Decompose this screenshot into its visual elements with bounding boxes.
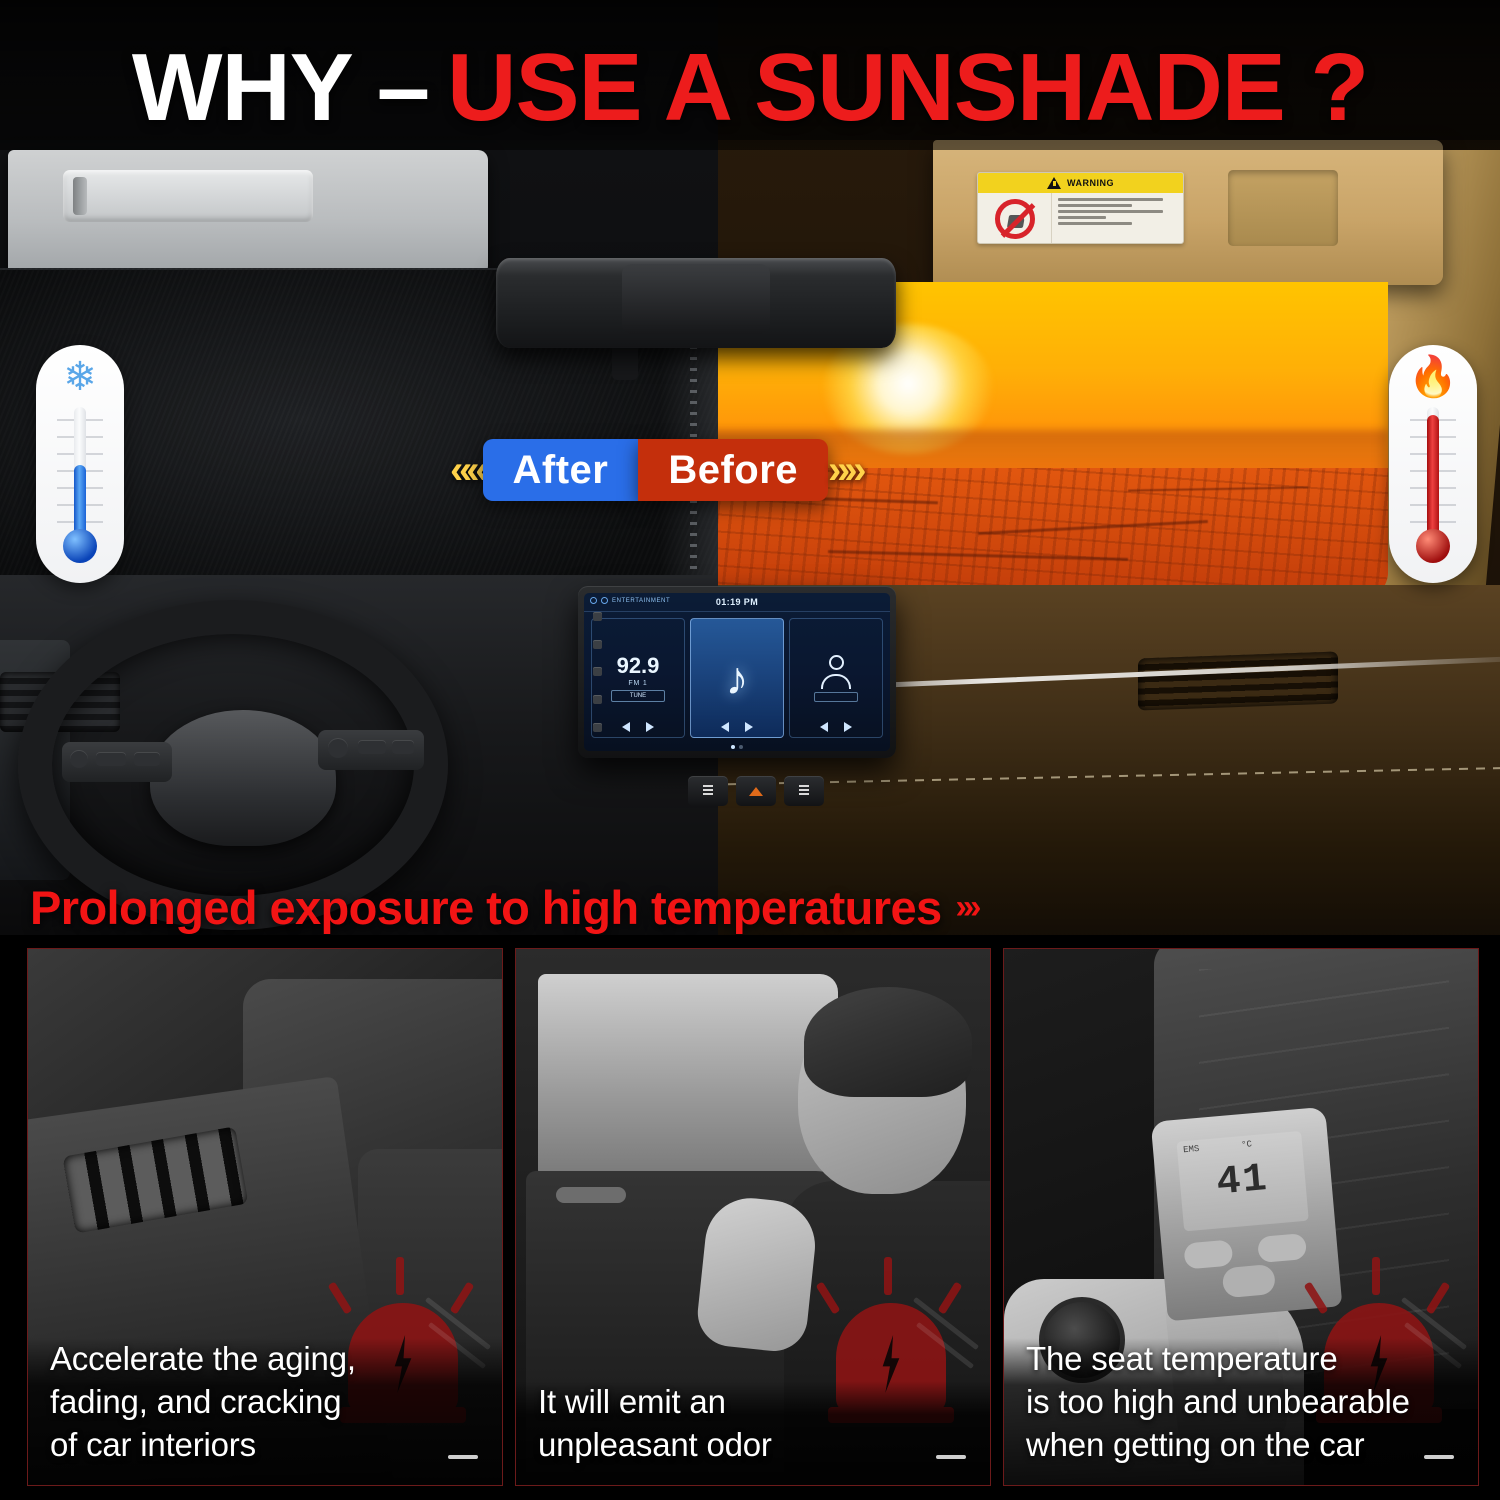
steering-button — [96, 752, 126, 766]
person-hair — [804, 987, 972, 1097]
infotainment-brand-label: ENTERTAINMENT — [612, 598, 670, 604]
panel-seat-temp: 41 EMS °C — [1003, 948, 1479, 1486]
seat-heater-left-button[interactable] — [688, 776, 728, 806]
thermometer-tube — [1427, 407, 1439, 539]
radio-seek-controls[interactable] — [622, 722, 654, 732]
infotainment-page-dots — [584, 742, 890, 751]
infotainment-statusbar: ENTERTAINMENT 01:19 PM — [584, 593, 890, 612]
visor-card-slot — [1228, 170, 1338, 246]
infotainment-clock: 01:19 PM — [716, 597, 758, 607]
menu-key[interactable] — [593, 695, 602, 704]
air-vent-right — [1138, 652, 1338, 711]
caption-underscore — [936, 1455, 966, 1459]
radio-frequency: 92.9 — [617, 655, 660, 677]
cold-thermometer: ❄ — [36, 345, 124, 583]
warning-label-text: WARNING — [1067, 178, 1114, 188]
profile-nav-controls[interactable] — [820, 722, 852, 732]
steering-wheel-airbag-hub — [150, 710, 336, 846]
back-key[interactable] — [593, 723, 602, 732]
hazard-triangle-icon — [749, 787, 763, 796]
hazard-lights-button[interactable] — [736, 776, 776, 806]
infotainment-head-unit[interactable]: ENTERTAINMENT 01:19 PM 92.9 FM 1 TUNE — [578, 586, 896, 758]
door-handle — [556, 1187, 626, 1203]
caption-underscore — [1424, 1455, 1454, 1459]
person-icon — [829, 655, 844, 670]
panel-odor: It will emit an unpleasant odor — [515, 948, 991, 1486]
seek-next-icon[interactable] — [646, 722, 654, 732]
infotainment-tiles: 92.9 FM 1 TUNE ♪ — [584, 612, 890, 742]
visor-warning-label: WARNING — [977, 172, 1184, 244]
section-headline: Prolonged exposure to high temperatures … — [30, 880, 978, 935]
thermometer-tube — [74, 407, 86, 539]
media-transport-controls[interactable] — [721, 722, 753, 732]
radio-band: FM 1 — [628, 680, 647, 687]
caption-underscore — [448, 1455, 478, 1459]
steering-controls-right — [318, 730, 424, 770]
rearview-mirror-housing — [622, 264, 770, 334]
section-headline-text: Prolonged exposure to high temperatures — [30, 880, 942, 935]
steering-button — [358, 740, 386, 754]
steering-button — [328, 738, 348, 758]
headline-chevrons-icon: ››› — [956, 888, 978, 927]
before-badge[interactable]: Before — [638, 439, 828, 501]
home-key[interactable] — [593, 612, 602, 621]
caption-line: of car interiors — [50, 1424, 480, 1467]
phone-profile-tile[interactable] — [789, 618, 883, 738]
caption-line: unpleasant odor — [538, 1424, 968, 1467]
heat-lines-icon — [799, 785, 809, 797]
heat-lines-icon — [703, 785, 713, 797]
panel-caption: Accelerate the aging, fading, and cracki… — [28, 1338, 502, 1485]
music-note-icon: ♪ — [726, 655, 749, 701]
center-console-buttons[interactable] — [676, 770, 836, 812]
panel-aging: Accelerate the aging, fading, and cracki… — [27, 948, 503, 1486]
power-key[interactable] — [593, 640, 602, 649]
thermometer-mode-label: EMS — [1183, 1144, 1200, 1155]
thermometer-unit-label: °C — [1241, 1139, 1253, 1150]
page-title: WHY – USE A SUNSHADE ? — [0, 34, 1500, 142]
before-after-toggle[interactable]: «« After Before »» — [450, 432, 861, 508]
caption-line: is too high and unbearable — [1026, 1381, 1456, 1424]
thermometer-mercury — [74, 465, 86, 539]
page-title-white: WHY – — [132, 33, 429, 143]
warning-label-header: WARNING — [978, 173, 1183, 193]
next-track-icon[interactable] — [745, 722, 753, 732]
after-badge[interactable]: After — [483, 439, 639, 501]
previous-track-icon[interactable] — [721, 722, 729, 732]
caption-line: when getting on the car — [1026, 1424, 1456, 1467]
steering-controls-left — [62, 742, 172, 782]
hot-thermometer: 🔥 — [1389, 345, 1477, 583]
seat-heater-right-button[interactable] — [784, 776, 824, 806]
panel-caption: It will emit an unpleasant odor — [516, 1381, 990, 1485]
benefit-panels-row: Accelerate the aging, fading, and cracki… — [0, 935, 1500, 1500]
thermometer-button-left[interactable] — [1183, 1239, 1233, 1269]
warning-triangle-icon — [1047, 177, 1061, 189]
no-child-seat-icon — [978, 193, 1052, 244]
profile-previous-icon[interactable] — [820, 722, 828, 732]
left-chevrons-icon: «« — [450, 450, 483, 490]
volume-key[interactable] — [593, 667, 602, 676]
thermometer-bulb — [63, 529, 97, 563]
thermometer-mercury — [1427, 415, 1439, 539]
thermometer-mode-button[interactable] — [1222, 1264, 1276, 1298]
caption-line: fading, and cracking — [50, 1381, 480, 1424]
rearview-mirror — [496, 258, 896, 348]
infotainment-hard-keys[interactable] — [584, 593, 610, 751]
raised-hand — [694, 1194, 819, 1355]
media-tile[interactable]: ♪ — [690, 618, 784, 738]
steering-button — [392, 740, 414, 754]
flame-icon: 🔥 — [1408, 357, 1458, 397]
infotainment-screen[interactable]: ENTERTAINMENT 01:19 PM 92.9 FM 1 TUNE — [584, 593, 890, 751]
sun-visor-left — [8, 150, 488, 280]
radio-preset-button[interactable]: TUNE — [611, 690, 664, 702]
warning-label-body — [978, 193, 1183, 244]
thermometer-bulb — [1416, 529, 1450, 563]
caption-line: The seat temperature — [1026, 1338, 1456, 1381]
profile-next-icon[interactable] — [844, 722, 852, 732]
profile-action-button[interactable] — [814, 692, 858, 702]
sun-visor-right: WARNING — [933, 140, 1443, 285]
snowflake-icon: ❄ — [63, 357, 97, 397]
seek-previous-icon[interactable] — [622, 722, 630, 732]
steering-button — [134, 752, 160, 766]
steering-button — [70, 750, 88, 768]
visor-mirror-left — [63, 170, 313, 222]
car-window — [538, 974, 838, 1174]
infographic-page: WARNING — [0, 0, 1500, 1500]
warning-label-fineprint — [1052, 193, 1183, 244]
caption-line: Accelerate the aging, — [50, 1338, 480, 1381]
panel-caption: The seat temperature is too high and unb… — [1004, 1338, 1478, 1485]
right-chevrons-icon: »» — [828, 450, 861, 490]
page-title-red: USE A SUNSHADE ? — [447, 33, 1368, 143]
caption-line: It will emit an — [538, 1381, 968, 1424]
